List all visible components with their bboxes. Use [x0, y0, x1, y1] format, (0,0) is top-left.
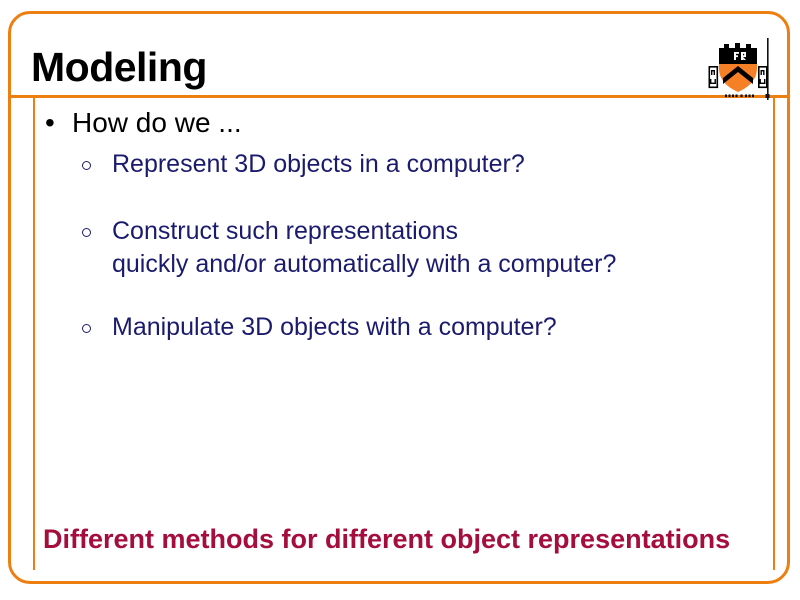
slide: Modeling	[0, 0, 800, 600]
page-title: Modeling	[31, 45, 207, 90]
bullet-level2-text-line2: quickly and/or automatically with a comp…	[112, 248, 770, 281]
slide-footer-note: Different methods for different object r…	[43, 522, 730, 556]
spacer	[40, 281, 770, 311]
bullet-level1-how-do-we: • How do we ...	[40, 104, 770, 142]
bullet-circle-icon	[82, 324, 91, 333]
bullet-level2-text-line1: Construct such representations	[112, 215, 770, 248]
bullet-level2-represent: Represent 3D objects in a computer?	[40, 148, 770, 181]
title-band: Modeling	[0, 11, 800, 95]
bullet-level2-manipulate: Manipulate 3D objects with a computer?	[40, 311, 770, 344]
bullet-circle-icon	[82, 228, 91, 237]
bullet-level2-text: Manipulate 3D objects with a computer?	[112, 311, 770, 344]
bullet-level1-text: How do we ...	[72, 107, 242, 138]
bullet-dot-icon: •	[45, 104, 55, 142]
princeton-shield-logo	[707, 36, 773, 102]
slide-content: • How do we ... Represent 3D objects in …	[40, 104, 770, 344]
spacer	[40, 181, 770, 215]
bullet-level2-text: Represent 3D objects in a computer?	[112, 148, 770, 181]
bullet-circle-icon	[82, 161, 91, 170]
bullet-level2-construct: Construct such representations quickly a…	[40, 215, 770, 281]
